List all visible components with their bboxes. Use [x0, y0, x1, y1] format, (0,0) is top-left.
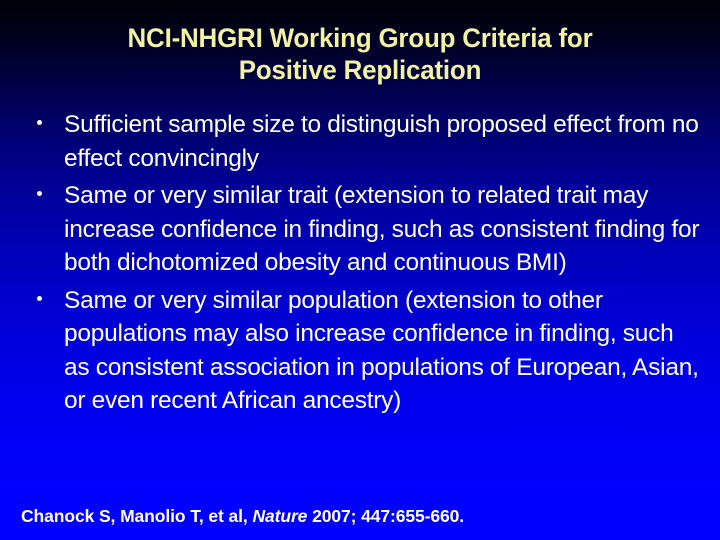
bullet-item-text: Sufficient sample size to distinguish pr… [64, 108, 702, 175]
slide-body: Sufficient sample size to distinguish pr… [30, 108, 702, 422]
bullet-dot-icon [37, 191, 42, 196]
bullet-item-text: Same or very similar population (extensi… [64, 284, 702, 418]
bullet-item: Sufficient sample size to distinguish pr… [30, 108, 702, 175]
citation-line: Chanock S, Manolio T, et al, Nature 2007… [21, 505, 464, 527]
bullet-item-text: Same or very similar trait (extension to… [64, 179, 702, 280]
bullet-item: Same or very similar trait (extension to… [30, 179, 702, 280]
slide-title: NCI-NHGRI Working Group Criteria for Pos… [40, 22, 680, 86]
bullet-dot-icon [37, 296, 42, 301]
slide-title-line-2: Positive Replication [53, 54, 667, 86]
bullet-dot-icon [37, 120, 42, 125]
slide-title-line-1: NCI-NHGRI Working Group Criteria for [53, 22, 667, 54]
citation-details: 2007; 447:655-660. [312, 506, 464, 526]
bullet-item: Same or very similar population (extensi… [30, 284, 702, 418]
citation-authors: Chanock S, Manolio T, et al, [21, 506, 248, 526]
citation-journal: Nature [252, 506, 307, 526]
presentation-slide: NCI-NHGRI Working Group Criteria for Pos… [0, 0, 720, 540]
